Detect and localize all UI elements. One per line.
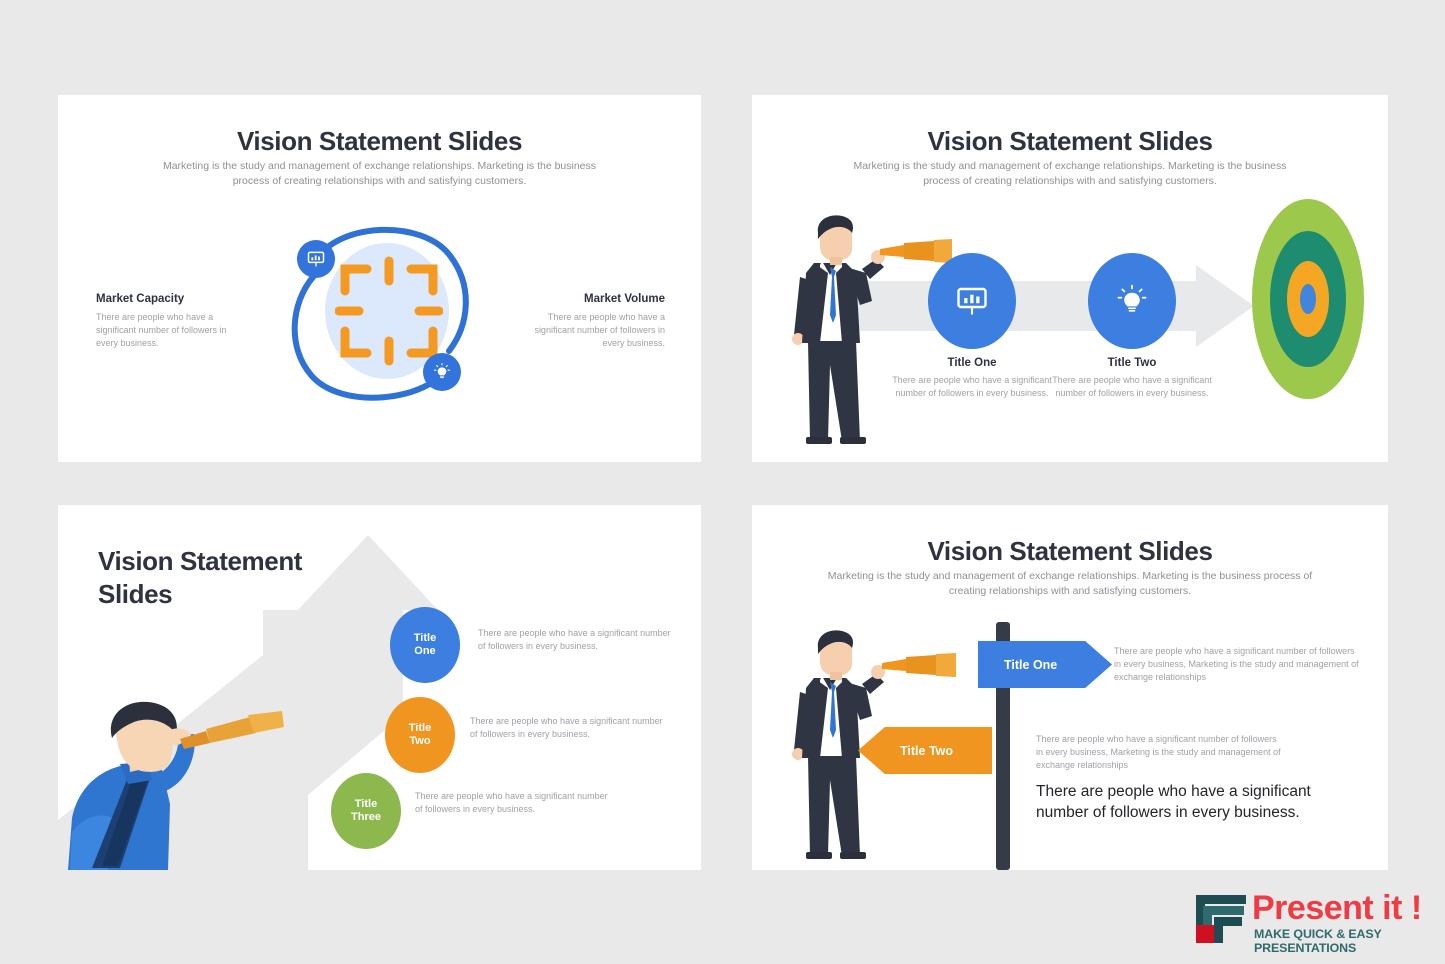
step-2-body: There are people who have a significant … [1052,374,1212,400]
item-3-circle[interactable]: Title Three [331,773,401,849]
telescope-icon [176,711,286,753]
item-3-body: There are people who have a significant … [415,790,610,816]
step-2-title: Title Two [1052,357,1212,369]
item-1-label-line1: Title [414,632,436,644]
slide-3-vision-rising-arrow[interactable]: Vision Statement Slides [58,505,701,870]
item-2-label-line1: Title [409,722,431,734]
chart-board-icon [954,283,990,319]
slide-4-title: Vision Statement Slides [752,536,1388,567]
item-2-body: There are people who have a significant … [470,715,665,741]
lightbulb-icon-badge[interactable] [423,353,461,391]
slide-1-subtitle: Marketing is the study and management of… [148,159,611,189]
chart-board-icon [306,249,326,269]
slide-4-vision-signpost[interactable]: Vision Statement Slides Marketing is the… [752,505,1388,870]
item-2-label-line2: Two [409,735,430,747]
market-capacity-body: There are people who have a significant … [96,311,246,350]
signpost-arrow-left[interactable]: Title Two [858,727,992,774]
lightbulb-icon [432,362,452,382]
process-step-2-icon-circle[interactable] [1088,253,1176,349]
sign-2-label: Title Two [900,744,953,758]
slide-1-title: Vision Statement Slides [58,126,701,157]
slide-2-title: Vision Statement Slides [752,126,1388,157]
sign-1-body: There are people who have a significant … [1114,645,1364,684]
slide-deck-canvas: Vision Statement Slides Marketing is the… [0,0,1445,964]
logo-wordmark: Present it ! [1252,889,1422,928]
process-step-1-icon-circle[interactable] [928,253,1016,349]
lightbulb-icon [1114,283,1150,319]
step-1-body: There are people who have a significant … [892,374,1052,400]
process-step-2-caption: Title Two There are people who have a si… [1052,357,1212,400]
process-step-1-caption: Title One There are people who have a si… [892,357,1052,400]
item-3-label-line1: Title [355,798,377,810]
nested-corners-logo-icon [1196,895,1246,943]
market-capacity-heading: Market Capacity [96,293,246,305]
telescope-icon [880,653,958,679]
slide-4-subtitle: Marketing is the study and management of… [827,569,1313,599]
market-volume-body: There are people who have a significant … [510,311,665,350]
item-2-circle[interactable]: Title Two [385,697,455,773]
item-3-label-line2: Three [351,811,381,823]
slide-4-statement: There are people who have a significant … [1036,781,1332,824]
logo-tagline: MAKE QUICK & EASY PRESENTATIONS [1254,927,1432,955]
slide-1-vision-two-sided[interactable]: Vision Statement Slides Marketing is the… [58,95,701,462]
step-1-title: Title One [892,357,1052,369]
process-arrow-shape [834,265,1254,347]
target-crosshair-icon [335,255,443,367]
slide-2-subtitle: Marketing is the study and management of… [837,159,1303,189]
sign-2-body: There are people who have a significant … [1036,733,1286,772]
slide-1-graphic [273,215,493,415]
slide-1-left-block: Market Capacity There are people who hav… [96,293,246,350]
bullseye-target-icon [1252,199,1364,399]
market-volume-heading: Market Volume [510,293,665,305]
chart-board-icon-badge[interactable] [297,240,335,278]
slide-2-vision-process-arrow[interactable]: Vision Statement Slides Marketing is the… [752,95,1388,462]
item-1-circle[interactable]: Title One [390,607,460,683]
signpost-arrow-right[interactable]: Title One [978,641,1112,688]
item-1-body: There are people who have a significant … [478,627,673,653]
slide-1-right-block: Market Volume There are people who have … [510,293,665,350]
present-it-logo[interactable]: Present it ! MAKE QUICK & EASY PRESENTAT… [1196,893,1432,949]
sign-1-label: Title One [1004,658,1057,672]
item-1-label-line2: One [414,645,435,657]
